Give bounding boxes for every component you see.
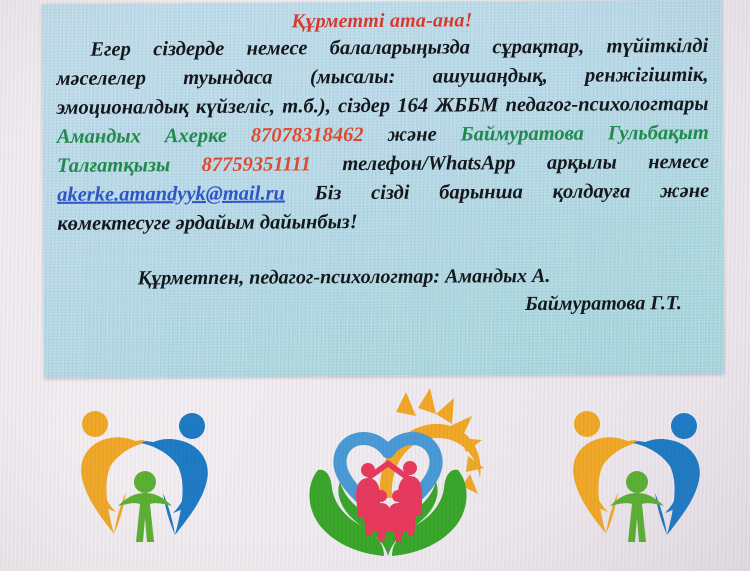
- closing-text-part-2: көмектесуге әрдайым дайынбыз!: [57, 206, 709, 239]
- signature-line-1: Құрметпен, педагог-психологтар: Амандых …: [58, 261, 710, 293]
- logo-row: [0, 386, 750, 571]
- email-link[interactable]: akerke.amandyyk@mail.ru: [57, 183, 285, 206]
- notice-panel: Құрметті ата-ана! Егер сіздерде немесе б…: [42, 0, 724, 378]
- signature-block: Құрметпен, педагог-психологтар: Амандых …: [58, 261, 710, 321]
- psychologist-name-1: Амандых Ахерке: [57, 125, 227, 148]
- notice-paragraph: Егер сіздерде немесе балаларыңызда сұрақ…: [56, 32, 709, 210]
- photographed-screen: Құрметті ата-ана! Егер сіздерде немесе б…: [0, 0, 750, 571]
- phone-number-2: 87759351111: [202, 153, 311, 176]
- notice-line-4-plain: ЖББМ педагог-психологтары: [435, 93, 708, 117]
- contact-method-text: телефон/WhatsApp арқылы немесе: [342, 151, 709, 175]
- signature-line-2: Баймуратова Г.Т.: [58, 289, 710, 321]
- conjunction-and: және: [388, 124, 437, 146]
- page-title: Құрметті ата-ана!: [56, 8, 708, 35]
- notice-line-1: Егер сіздерде немесе балаларыңызда сұрақ…: [90, 36, 584, 61]
- three-people-community-logo-left: [48, 394, 248, 554]
- hands-heart-family-sun-logo: [288, 386, 488, 562]
- closing-text-part-1: Біз сізді барынша қолдауға және: [315, 180, 710, 204]
- three-people-community-logo-right: [540, 394, 740, 554]
- phone-number-1: 87078318462: [251, 124, 364, 147]
